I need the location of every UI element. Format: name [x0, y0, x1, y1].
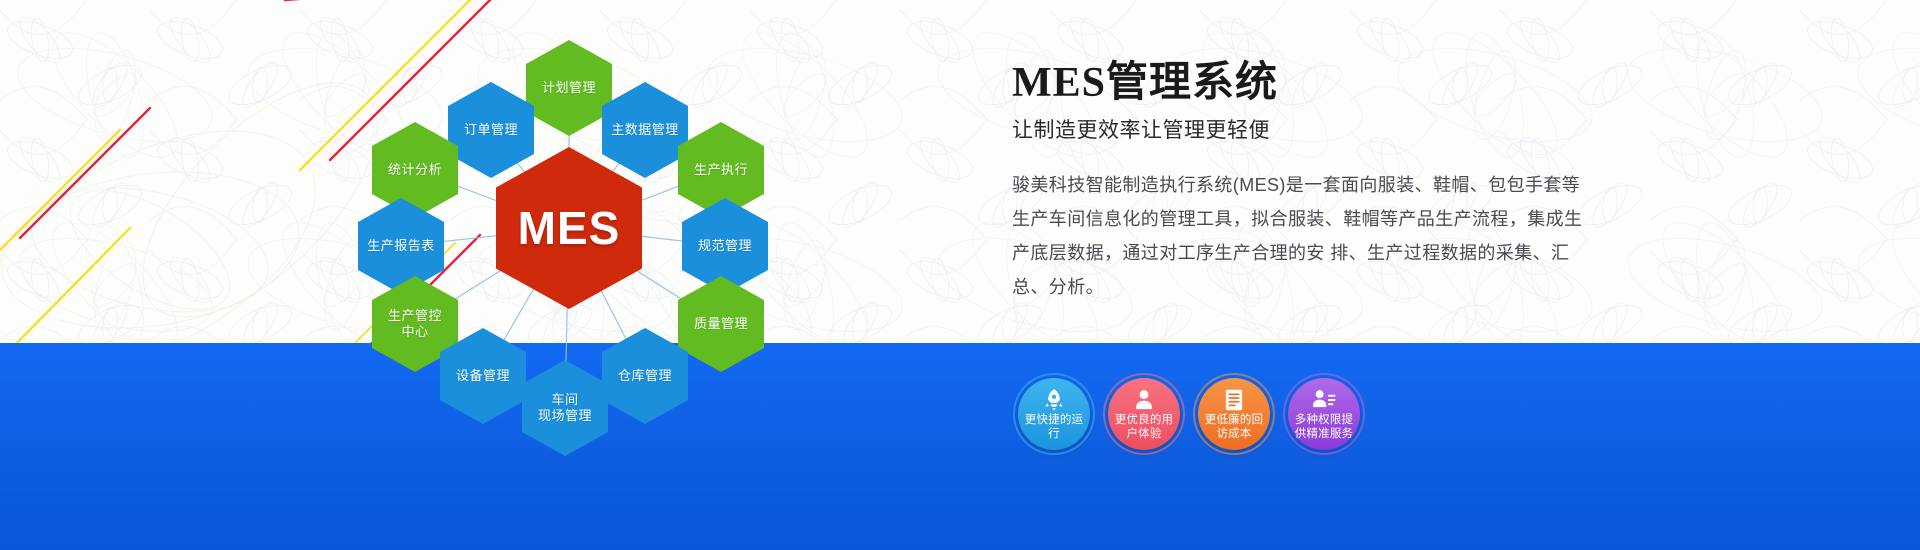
- badge-ring: [1013, 373, 1095, 455]
- hex-node-label: 订单管理: [460, 122, 522, 138]
- hex-node-label: 计划管理: [538, 80, 600, 96]
- hex-node-label: 仓库管理: [614, 368, 676, 384]
- mes-hex-diagram: 计划管理订单管理主数据管理统计分析生产执行生产报告表规范管理生产管控中心质量管理…: [330, 10, 800, 450]
- hex-node-label: 车间现场管理: [534, 392, 596, 424]
- bottom-blue-band: [0, 343, 1920, 550]
- hex-node-label: 规范管理: [694, 238, 756, 254]
- hex-node-label: 生产执行: [690, 162, 752, 178]
- hex-node-label: 主数据管理: [607, 122, 683, 138]
- banner-stage: 计划管理订单管理主数据管理统计分析生产执行生产报告表规范管理生产管控中心质量管理…: [0, 0, 1920, 550]
- badge-ring: [1193, 373, 1275, 455]
- hex-node-label: 质量管理: [690, 316, 752, 332]
- badge-ring: [1283, 373, 1365, 455]
- badge-lower-cost[interactable]: 更低廉的回访成本: [1198, 378, 1270, 450]
- hex-node-label: 生产管控中心: [384, 308, 446, 340]
- badge-ring: [1103, 373, 1185, 455]
- description-paragraph: 骏美科技智能制造执行系统(MES)是一套面向服装、鞋帽、包包手套等生产车间信息化…: [1012, 168, 1592, 304]
- page-title: MES管理系统: [1012, 58, 1592, 108]
- badge-permissions[interactable]: 多种权限提供精准服务: [1288, 378, 1360, 450]
- page-subtitle: 让制造更效率让管理更轻便: [1012, 114, 1592, 144]
- copy-block: MES管理系统 让制造更效率让管理更轻便 骏美科技智能制造执行系统(MES)是一…: [1012, 58, 1592, 304]
- badge-faster-operation[interactable]: 更快捷的运行: [1018, 378, 1090, 450]
- feature-badge-row: 更快捷的运行 更优良的用户体验 更低廉的回访成本: [1018, 378, 1360, 450]
- hex-node-label: 统计分析: [384, 162, 446, 178]
- hex-node-label: 设备管理: [452, 368, 514, 384]
- hex-core-label: MES: [514, 220, 625, 236]
- hex-node-label: 生产报告表: [363, 238, 439, 254]
- badge-better-experience[interactable]: 更优良的用户体验: [1108, 378, 1180, 450]
